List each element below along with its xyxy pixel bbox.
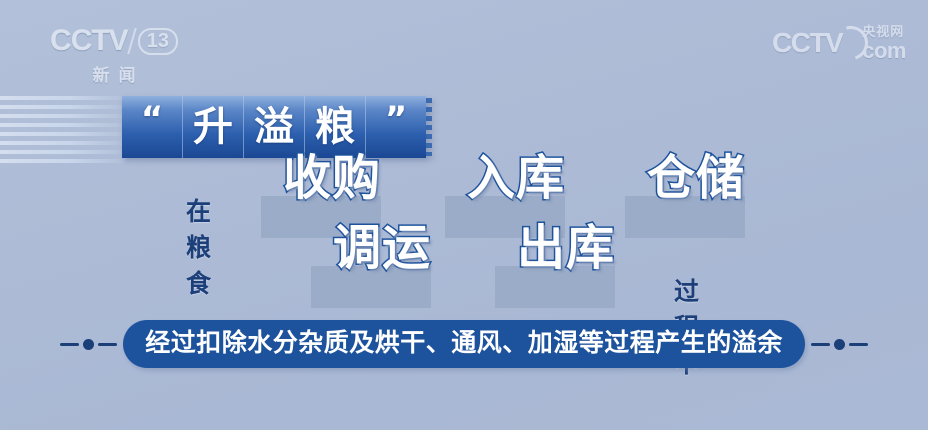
cctv13-slash-icon — [127, 28, 136, 54]
chip-label: 仓储 — [636, 154, 756, 202]
cctv13-logo: CCTV 13 新闻 — [48, 24, 180, 86]
cctv-com-logo: CCTV 央视网 com — [772, 26, 906, 62]
deco-bar — [849, 343, 868, 346]
cctv13-logo-row: CCTV 13 — [48, 24, 180, 58]
deco-bar — [60, 343, 79, 346]
banner-text: 经过扣除水分杂质及烘干、通风、加湿等过程产生的溢余 — [145, 328, 783, 357]
headline-char: 粮 — [315, 107, 355, 147]
headline-cell-close-quote: ” — [366, 96, 426, 158]
chip-label: 收购 — [272, 154, 392, 202]
chip-label: 出库 — [506, 224, 626, 272]
decorative-stripes — [0, 96, 128, 170]
bottom-banner: 经过扣除水分杂质及烘干、通风、加湿等过程产生的溢余 — [0, 320, 928, 368]
deco-dot — [83, 339, 94, 350]
cctv13-number: 13 — [138, 28, 178, 55]
headline-cell-3: 粮 — [305, 96, 366, 158]
cctv13-subtitle: 新闻 — [48, 61, 180, 86]
deco-bar — [98, 343, 117, 346]
headline-cell-2: 溢 — [244, 96, 305, 158]
banner-right-decoration-icon — [811, 339, 868, 350]
deco-dot — [834, 339, 845, 350]
headline-cell-open-quote: “ — [122, 96, 183, 158]
chip-label: 入库 — [456, 154, 576, 202]
cctv-com-tld-label: com — [862, 40, 906, 62]
headline: “ 升 溢 粮 ” — [122, 96, 426, 158]
banner-left-decoration-icon — [60, 339, 117, 350]
banner-pill: 经过扣除水分杂质及烘干、通风、加湿等过程产生的溢余 — [123, 320, 805, 368]
headline-char: ” — [385, 102, 407, 136]
cctv-com-textblock: 央视网 com — [862, 26, 906, 62]
headline-cell-1: 升 — [183, 96, 244, 158]
deco-bar — [811, 343, 830, 346]
headline-edge-ticks-icon — [426, 98, 432, 156]
lead-label: 在粮食 — [186, 192, 212, 300]
chip-label: 调运 — [322, 224, 442, 272]
broadcast-graphic: CCTV 13 新闻 CCTV 央视网 com “ 升 溢 粮 ” — [0, 0, 928, 430]
headline-char: 溢 — [254, 107, 294, 147]
headline-char: 升 — [193, 107, 233, 147]
cctv13-wordmark: CCTV — [50, 24, 128, 58]
headline-char: “ — [141, 102, 163, 136]
cctv-com-swoosh-icon — [832, 26, 866, 62]
